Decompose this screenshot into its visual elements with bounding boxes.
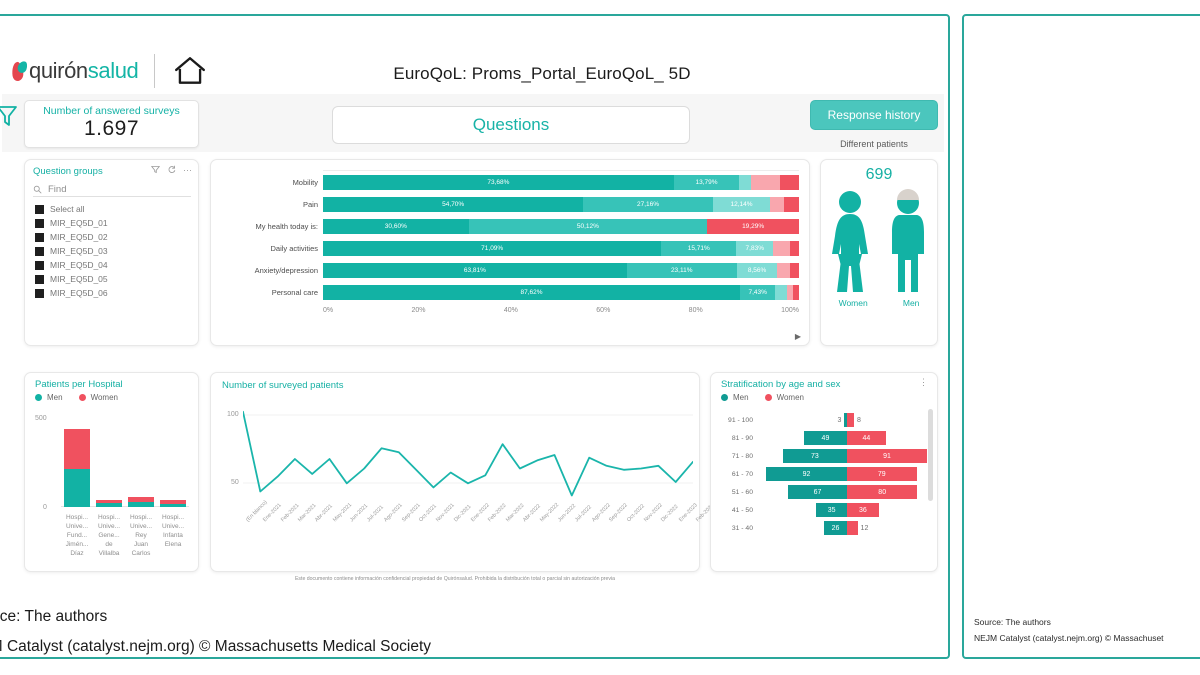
kpi-value: 1.697 bbox=[25, 117, 198, 141]
checkbox[interactable] bbox=[35, 289, 44, 298]
question-group-item[interactable]: MIR_EQ5D_02 bbox=[35, 230, 108, 244]
bar-segment[interactable]: 71,09% bbox=[323, 241, 661, 256]
x-tick: 40% bbox=[504, 307, 518, 314]
hospital-bar[interactable] bbox=[160, 500, 186, 507]
pyramid-value-women: 8 bbox=[854, 413, 864, 427]
quironsalud-leaf-icon bbox=[12, 61, 27, 82]
question-group-item[interactable]: MIR_EQ5D_06 bbox=[35, 286, 108, 300]
bar-track: 63,81%23,11%8,56% bbox=[323, 263, 799, 278]
pyramid-bar-men[interactable]: 35 bbox=[816, 503, 847, 517]
pyramid-age-label: 81 - 90 bbox=[715, 435, 759, 442]
pyramid-men-half: 67 bbox=[759, 485, 847, 499]
pyramid-women-half: 44 bbox=[847, 431, 935, 445]
bar-segment[interactable] bbox=[773, 241, 790, 256]
bar-track: 30,60%50,12%19,29% bbox=[323, 219, 799, 234]
surveyed-patients-line-chart: Number of surveyed patients 100 50 (En b… bbox=[210, 372, 700, 572]
bar-segment[interactable]: 54,70% bbox=[323, 197, 583, 212]
source-line-1: Source: The authors bbox=[974, 617, 1051, 627]
question-groups-card: Question groups ··· Fi bbox=[24, 159, 199, 346]
filter-icon[interactable] bbox=[0, 104, 18, 128]
page-title: EuroQoL: Proms_Portal_EuroQoL_ 5D bbox=[332, 64, 752, 84]
question-group-label: MIR_EQ5D_01 bbox=[50, 218, 108, 228]
question-group-label: MIR_EQ5D_04 bbox=[50, 260, 108, 270]
hospital-bar-men[interactable] bbox=[96, 503, 122, 507]
question-groups-search[interactable]: Find bbox=[33, 182, 191, 197]
bar-track: 73,68%13,79% bbox=[323, 175, 799, 190]
bar-category-label: Personal care bbox=[247, 288, 323, 297]
bar-segment[interactable]: 7,83% bbox=[736, 241, 773, 256]
pyramid-bar-men[interactable]: 26 bbox=[824, 521, 847, 535]
men-label: Men bbox=[903, 298, 920, 308]
bar-segment[interactable] bbox=[780, 175, 799, 190]
pyramid-age-label: 41 - 50 bbox=[715, 507, 759, 514]
pyramid-row[interactable]: 51 - 606780 bbox=[715, 483, 935, 501]
x-tick: 60% bbox=[596, 307, 610, 314]
bar-category-label: My health today is: bbox=[247, 222, 323, 231]
mobile-app-panel: 20:13 Symptor Curren bbox=[962, 14, 1200, 659]
bar-rows: Mobility73,68%13,79%Pain54,70%27,16%12,1… bbox=[247, 172, 799, 304]
pyramid-women-half: 12 bbox=[847, 521, 935, 535]
hospital-label: Hospi...Unive...ReyJuanCarlos bbox=[126, 513, 156, 558]
pyramid-men-half: 49 bbox=[759, 431, 847, 445]
divider bbox=[154, 54, 155, 88]
x-tick: 20% bbox=[412, 307, 426, 314]
chart-gridline bbox=[323, 170, 799, 171]
y-tick-100: 100 bbox=[227, 411, 239, 418]
question-groups-list: Select allMIR_EQ5D_01MIR_EQ5D_02MIR_EQ5D… bbox=[35, 202, 108, 300]
legend-item-men: Men bbox=[35, 393, 63, 402]
bar-segment[interactable] bbox=[739, 175, 751, 190]
questions-stacked-bar-chart: Mobility73,68%13,79%Pain54,70%27,16%12,1… bbox=[210, 159, 810, 346]
pyramid-bar-men[interactable]: 73 bbox=[783, 449, 847, 463]
question-groups-title: Question groups bbox=[33, 166, 103, 177]
pyramid-row[interactable]: 71 - 807391 bbox=[715, 447, 935, 465]
pyramid-row[interactable]: 61 - 709279 bbox=[715, 465, 935, 483]
legend-item-men: Men bbox=[721, 393, 749, 402]
bar-segment[interactable]: 87,62% bbox=[323, 285, 740, 300]
bar-segment[interactable] bbox=[790, 263, 799, 278]
pyramid-women-half: 36 bbox=[847, 503, 935, 517]
confidentiality-disclaimer: Este documento contiene información conf… bbox=[210, 576, 700, 582]
pyramid-row[interactable]: 41 - 503536 bbox=[715, 501, 935, 519]
hospital-bar[interactable] bbox=[128, 497, 154, 507]
women-label: Women bbox=[839, 298, 868, 308]
x-axis-ticks: 0%20%40%60%80%100% bbox=[323, 307, 799, 314]
filter-icon[interactable] bbox=[151, 165, 160, 174]
bar-row[interactable]: Personal care87,62%7,43% bbox=[247, 282, 799, 302]
question-group-item[interactable]: MIR_EQ5D_01 bbox=[35, 216, 108, 230]
pyramid-age-label: 31 - 40 bbox=[715, 525, 759, 532]
y-tick-0: 0 bbox=[43, 504, 47, 511]
bar-segment[interactable] bbox=[775, 285, 786, 300]
pyramid-women-half: 79 bbox=[847, 467, 935, 481]
search-icon bbox=[33, 185, 42, 194]
brand-logo: quirónsalud bbox=[12, 54, 207, 88]
question-group-label: MIR_EQ5D_05 bbox=[50, 274, 108, 284]
different-patients-count: 699 bbox=[821, 166, 937, 184]
bar-segment[interactable]: 7,43% bbox=[740, 285, 775, 300]
hospital-category-labels: Hospi...Unive...Fund...Jimén...DíazHospi… bbox=[61, 513, 189, 558]
pyramid-women-half: 91 bbox=[847, 449, 935, 463]
pyramid-women-half: 80 bbox=[847, 485, 935, 499]
kpi-label: Number of answered surveys bbox=[25, 105, 198, 117]
bar-segment[interactable]: 30,60% bbox=[323, 219, 469, 234]
x-tick: 0% bbox=[323, 307, 333, 314]
pyramid-age-label: 51 - 60 bbox=[715, 489, 759, 496]
hospital-label: Hospi...Unive...InfantaElena bbox=[158, 513, 188, 558]
pyramid-age-label: 71 - 80 bbox=[715, 453, 759, 460]
hospital-label: Hospi...Unive...Gene...deVillalba bbox=[94, 513, 124, 558]
slide: quirónsalud EuroQoL: Proms_Portal_EuroQo… bbox=[0, 0, 1200, 675]
patients-per-hospital-title: Patients per Hospital bbox=[25, 373, 198, 390]
y-tick-500: 500 bbox=[35, 415, 47, 422]
pyramid-bar-women[interactable]: 44 bbox=[847, 431, 886, 445]
question-group-label: MIR_EQ5D_06 bbox=[50, 288, 108, 298]
pyramid-bar-women[interactable] bbox=[847, 413, 854, 427]
tab-questions[interactable]: Questions bbox=[332, 106, 690, 144]
pyramid-men-half: 73 bbox=[759, 449, 847, 463]
pyramid-bar-women[interactable]: 91 bbox=[847, 449, 927, 463]
line-x-axis-labels: (En blanco)Ene-2021Feb-2021Mar-2021Abr-2… bbox=[243, 515, 693, 565]
pyramid-title: Stratification by age and sex bbox=[711, 373, 937, 390]
pyramid-bar-women[interactable]: 79 bbox=[847, 467, 917, 481]
scrollbar[interactable] bbox=[928, 409, 933, 501]
checkbox[interactable] bbox=[35, 247, 44, 256]
pyramid-men-half: 92 bbox=[759, 467, 847, 481]
bar-segment[interactable]: 13,79% bbox=[674, 175, 740, 190]
bar-track: 71,09%15,71%7,83% bbox=[323, 241, 799, 256]
pyramid-rows: 91 - 1003881 - 90494471 - 80739161 - 709… bbox=[715, 411, 935, 537]
pyramid-bar-women[interactable]: 36 bbox=[847, 503, 879, 517]
man-icon bbox=[886, 188, 930, 296]
bar-segment[interactable]: 8,56% bbox=[737, 263, 778, 278]
bar-category-label: Daily activities bbox=[247, 244, 323, 253]
hospital-plot: 500 0 bbox=[35, 419, 193, 507]
pyramid-age-label: 61 - 70 bbox=[715, 471, 759, 478]
source-line-1: urce: The authors bbox=[0, 608, 107, 626]
hospital-label: Hospi...Unive...Fund...Jimén...Díaz bbox=[62, 513, 92, 558]
brand-name-dark: quirón bbox=[29, 58, 88, 83]
different-patients-card: 699 Women Men bbox=[820, 159, 938, 346]
hospital-bar-women[interactable] bbox=[64, 429, 90, 469]
pyramid-women-half: 8 bbox=[847, 413, 935, 427]
question-groups-icons: ··· bbox=[151, 165, 192, 174]
x-tick: 100% bbox=[781, 307, 799, 314]
y-tick-50: 50 bbox=[231, 479, 239, 486]
legend-label-men: Men bbox=[733, 393, 749, 402]
question-group-item[interactable]: MIR_EQ5D_03 bbox=[35, 244, 108, 258]
bar-segment[interactable]: 19,29% bbox=[707, 219, 799, 234]
bar-row[interactable]: Daily activities71,09%15,71%7,83% bbox=[247, 238, 799, 258]
source-line-2: NEJM Catalyst (catalyst.nejm.org) © Mass… bbox=[974, 633, 1164, 643]
x-tick: 80% bbox=[689, 307, 703, 314]
refresh-icon[interactable] bbox=[167, 165, 176, 174]
pyramid-row[interactable]: 31 - 402612 bbox=[715, 519, 935, 537]
bar-segment[interactable]: 12,14% bbox=[713, 197, 771, 212]
hospital-bar-men[interactable] bbox=[160, 504, 186, 507]
pyramid-men-half: 3 bbox=[759, 413, 847, 427]
question-group-label: MIR_EQ5D_03 bbox=[50, 246, 108, 256]
bar-segment[interactable]: 73,68% bbox=[323, 175, 674, 190]
pyramid-age-label: 91 - 100 bbox=[715, 417, 759, 424]
bar-segment[interactable]: 15,71% bbox=[661, 241, 736, 256]
hospital-bar[interactable] bbox=[96, 500, 122, 507]
bar-track: 87,62%7,43% bbox=[323, 285, 799, 300]
source-line-2: JM Catalyst (catalyst.nejm.org) © Massac… bbox=[0, 638, 431, 656]
bar-track: 54,70%27,16%12,14% bbox=[323, 197, 799, 212]
pyramid-bar-men[interactable]: 92 bbox=[766, 467, 847, 481]
bar-segment[interactable] bbox=[770, 197, 784, 212]
bar-row[interactable]: Mobility73,68%13,79% bbox=[247, 172, 799, 192]
checkbox[interactable] bbox=[35, 261, 44, 270]
search-placeholder: Find bbox=[48, 184, 66, 195]
different-patients-label: Different patients bbox=[810, 139, 938, 149]
pyramid-row[interactable]: 81 - 904944 bbox=[715, 429, 935, 447]
pyramid-value-men: 3 bbox=[834, 413, 844, 427]
checkbox[interactable] bbox=[35, 233, 44, 242]
bar-category-label: Pain bbox=[247, 200, 323, 209]
bar-row[interactable]: Pain54,70%27,16%12,14% bbox=[247, 194, 799, 214]
bar-category-label: Anxiety/depression bbox=[247, 266, 323, 275]
checkbox[interactable] bbox=[35, 219, 44, 228]
checkbox[interactable] bbox=[35, 205, 44, 214]
bar-row[interactable]: Anxiety/depression63,81%23,11%8,56% bbox=[247, 260, 799, 280]
bar-segment[interactable] bbox=[784, 197, 799, 212]
question-group-item[interactable]: MIR_EQ5D_04 bbox=[35, 258, 108, 272]
pyramid-legend: Men Women bbox=[711, 390, 937, 402]
question-group-label: MIR_EQ5D_02 bbox=[50, 232, 108, 242]
patient-figures bbox=[821, 188, 937, 296]
bar-segment[interactable]: 27,16% bbox=[583, 197, 712, 212]
bar-segment[interactable] bbox=[777, 263, 789, 278]
patients-per-hospital-card: Patients per Hospital Men Women 500 0 bbox=[24, 372, 199, 572]
kpi-answered-surveys: Number of answered surveys 1.697 bbox=[24, 100, 199, 148]
legend-label-women: Women bbox=[777, 393, 804, 402]
pyramid-bar-women[interactable] bbox=[847, 521, 858, 535]
bar-category-label: Mobility bbox=[247, 178, 323, 187]
bar-segment[interactable]: 23,11% bbox=[627, 263, 737, 278]
bar-segment[interactable] bbox=[751, 175, 780, 190]
pyramid-bar-women[interactable]: 80 bbox=[847, 485, 917, 499]
bar-row[interactable]: My health today is:30,60%50,12%19,29% bbox=[247, 216, 799, 236]
question-group-item[interactable]: MIR_EQ5D_05 bbox=[35, 272, 108, 286]
question-group-label: Select all bbox=[50, 204, 85, 214]
power-bi-dashboard: quirónsalud EuroQoL: Proms_Portal_EuroQo… bbox=[2, 16, 944, 588]
woman-icon bbox=[828, 188, 872, 296]
bar-segment[interactable] bbox=[790, 241, 799, 256]
brand-name-accent: salud bbox=[88, 58, 139, 83]
hospital-bar-men[interactable] bbox=[64, 469, 90, 507]
hospital-bar-men[interactable] bbox=[128, 502, 154, 507]
legend-item-women: Women bbox=[765, 393, 804, 402]
pyramid-value-women: 12 bbox=[858, 521, 872, 535]
hospital-bars bbox=[61, 425, 189, 507]
line-chart-title: Number of surveyed patients bbox=[211, 373, 699, 391]
pyramid-men-half: 26 bbox=[759, 521, 847, 535]
home-icon[interactable] bbox=[173, 55, 207, 87]
more-icon[interactable]: ··· bbox=[183, 167, 192, 173]
legend-item-women: Women bbox=[79, 393, 118, 402]
age-sex-stratification-card: Stratification by age and sex ⋮ Men Wome… bbox=[710, 372, 938, 572]
question-group-item[interactable]: Select all bbox=[35, 202, 108, 216]
more-icon[interactable]: ⋮ bbox=[919, 377, 929, 388]
line-series bbox=[243, 395, 693, 515]
hospital-bar[interactable] bbox=[64, 429, 90, 507]
pyramid-bar-men[interactable]: 67 bbox=[788, 485, 847, 499]
pyramid-bar-men[interactable]: 49 bbox=[804, 431, 847, 445]
legend-label-men: Men bbox=[47, 393, 63, 402]
bar-segment[interactable]: 50,12% bbox=[469, 219, 708, 234]
play-icon[interactable]: ▶ bbox=[795, 332, 801, 341]
checkbox[interactable] bbox=[35, 275, 44, 284]
brand-name: quirónsalud bbox=[29, 58, 138, 84]
legend-label-women: Women bbox=[91, 393, 118, 402]
response-history-button[interactable]: Response history bbox=[810, 100, 938, 130]
pyramid-men-half: 35 bbox=[759, 503, 847, 517]
bar-segment[interactable]: 63,81% bbox=[323, 263, 627, 278]
bar-segment[interactable] bbox=[793, 285, 799, 300]
dashboard-panel: quirónsalud EuroQoL: Proms_Portal_EuroQo… bbox=[0, 14, 950, 659]
patient-figure-labels: Women Men bbox=[821, 298, 937, 308]
pyramid-row[interactable]: 91 - 10038 bbox=[715, 411, 935, 429]
hospital-legend: Men Women bbox=[25, 390, 198, 402]
